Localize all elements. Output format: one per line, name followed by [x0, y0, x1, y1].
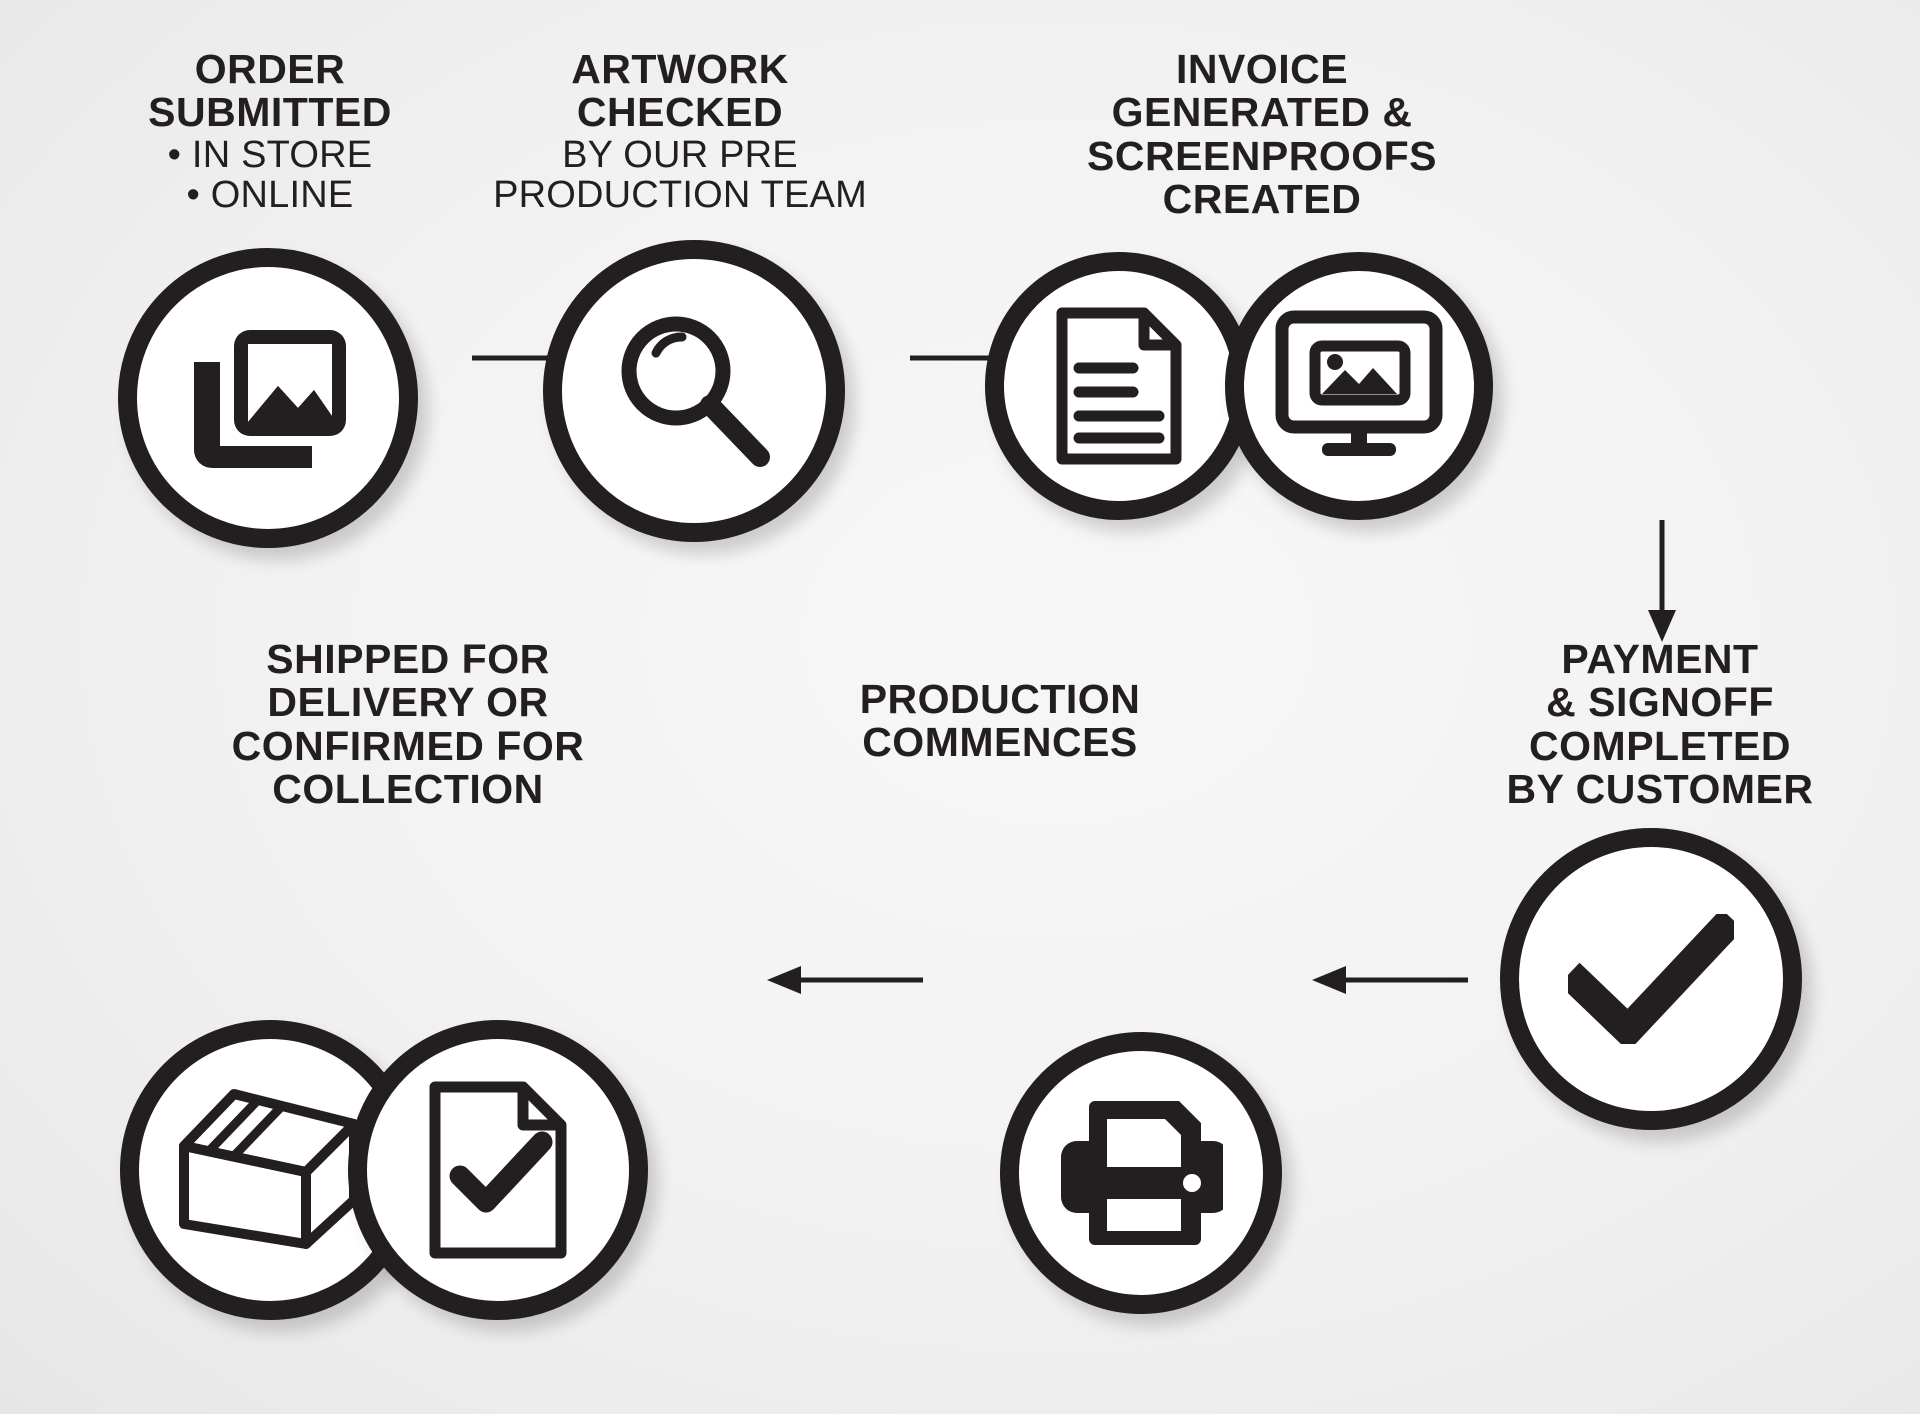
step-4-heading-line3: COMPLETED — [1430, 725, 1890, 768]
step-2-sub-line2: PRODUCTION TEAM — [450, 175, 910, 215]
arrow-4-to-5 — [1310, 960, 1470, 1000]
step-5-label: PRODUCTION COMMENCES — [710, 678, 1290, 765]
monitor-image-icon — [1275, 310, 1443, 462]
arrow-5-to-6 — [765, 960, 925, 1000]
step-3-circle-monitor[interactable] — [1225, 252, 1493, 520]
step-3-heading-line4: CREATED — [1012, 178, 1512, 221]
printer-icon — [1059, 1095, 1223, 1251]
step-3-heading-line3: SCREENPROOFS — [1012, 135, 1512, 178]
step-1-label: ORDER SUBMITTED • IN STORE • ONLINE — [60, 48, 480, 215]
step-3-heading-line2: GENERATED & — [1012, 91, 1512, 134]
document-check-icon — [428, 1080, 568, 1260]
step-6-circle-document-check[interactable] — [348, 1020, 648, 1320]
checkmark-icon — [1568, 914, 1734, 1044]
step-2-label: ARTWORK CHECKED BY OUR PRE PRODUCTION TE… — [450, 48, 910, 215]
step-4-circle[interactable] — [1500, 828, 1802, 1130]
step-4-heading-line4: BY CUSTOMER — [1430, 768, 1890, 811]
step-1-bullet-1: • IN STORE — [60, 135, 480, 175]
step-4-label: PAYMENT & SIGNOFF COMPLETED BY CUSTOMER — [1430, 638, 1890, 812]
step-1-bullet-2: • ONLINE — [60, 175, 480, 215]
step-6-label: SHIPPED FOR DELIVERY OR CONFIRMED FOR CO… — [128, 638, 688, 812]
step-4-heading-line2: & SIGNOFF — [1430, 681, 1890, 724]
step-3-label: INVOICE GENERATED & SCREENPROOFS CREATED — [1012, 48, 1512, 222]
step-2-heading-line2: CHECKED — [450, 91, 910, 134]
step-5-heading-line1: PRODUCTION — [710, 678, 1290, 721]
arrow-3-to-4 — [1640, 520, 1684, 644]
step-2-circle[interactable] — [543, 240, 845, 542]
process-flow-diagram: ORDER SUBMITTED • IN STORE • ONLINE — [0, 0, 1920, 1414]
step-4-heading-line1: PAYMENT — [1430, 638, 1890, 681]
photo-library-icon — [186, 328, 350, 468]
package-box-icon — [172, 1084, 368, 1256]
step-2-heading-line1: ARTWORK — [450, 48, 910, 91]
step-6-heading-line2: DELIVERY OR — [128, 681, 688, 724]
step-1-heading-line1: ORDER — [60, 48, 480, 91]
step-6-heading-line4: COLLECTION — [128, 768, 688, 811]
magnifier-icon — [608, 305, 780, 477]
step-5-heading-line2: COMMENCES — [710, 721, 1290, 764]
step-5-circle[interactable] — [1000, 1032, 1282, 1314]
step-3-circle-document[interactable] — [985, 252, 1253, 520]
step-6-heading-line3: CONFIRMED FOR — [128, 725, 688, 768]
step-6-heading-line1: SHIPPED FOR — [128, 638, 688, 681]
step-1-heading-line2: SUBMITTED — [60, 91, 480, 134]
step-3-heading-line1: INVOICE — [1012, 48, 1512, 91]
step-1-circle[interactable] — [118, 248, 418, 548]
document-lines-icon — [1055, 306, 1183, 466]
step-2-sub-line1: BY OUR PRE — [450, 135, 910, 175]
